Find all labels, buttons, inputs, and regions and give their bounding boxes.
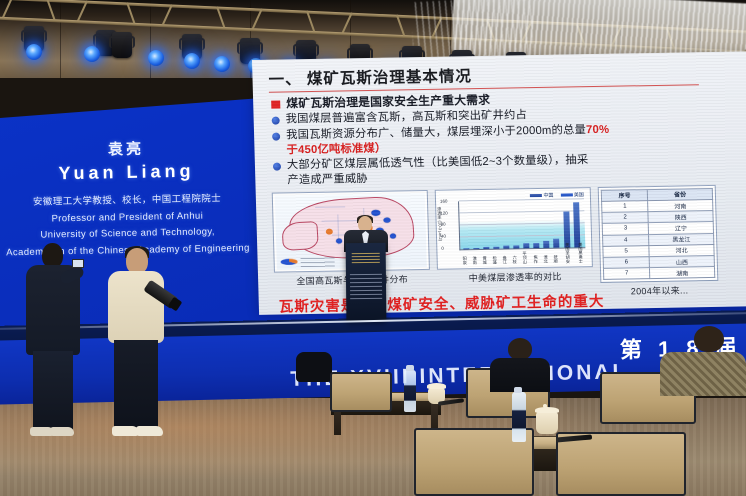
x-tick-label: 焦作 bbox=[533, 255, 539, 263]
audience-chair bbox=[556, 432, 686, 496]
table-cell-no: 1 bbox=[602, 201, 649, 213]
map-legend-pie bbox=[281, 258, 298, 264]
chart-bar bbox=[553, 238, 560, 247]
conference-stage-photo: 袁亮 Yuan Liang 安徽理工大学教授、校长，中国工程院院士 Profes… bbox=[0, 0, 746, 496]
chart-bar bbox=[523, 244, 529, 248]
table-header-cell: 序号 bbox=[601, 189, 648, 201]
presentation-slide: 一、 煤矿瓦斯治理基本情况 煤矿瓦斯治理是国家安全生产重大需求 我国煤层普遍富含… bbox=[252, 51, 746, 315]
chart-bar bbox=[573, 202, 581, 247]
x-tick-label: 抚顺 bbox=[553, 255, 559, 263]
y-tick-label: 120 bbox=[440, 210, 447, 215]
audience-member bbox=[490, 338, 550, 390]
figure-rank-table: 序号 省份 1 河南 2 陕西 3 辽宁 bbox=[598, 185, 719, 299]
chart-bar bbox=[513, 245, 519, 248]
square-bullet-icon bbox=[271, 101, 280, 109]
dot-bullet-icon bbox=[272, 132, 280, 140]
dot-bullet-icon bbox=[273, 162, 281, 170]
table-cell-no: 2 bbox=[602, 212, 649, 224]
cup-lid-knob bbox=[543, 404, 547, 408]
x-tick-label: 松藻 bbox=[492, 256, 498, 264]
x-tick-label: 淮南 bbox=[472, 256, 478, 264]
chart-bar bbox=[543, 241, 549, 248]
photographer-body bbox=[108, 271, 164, 343]
x-tick-label: 美国圣胡安 bbox=[564, 242, 571, 263]
legend-swatch-china bbox=[530, 194, 542, 197]
x-tick-label: 六枝 bbox=[512, 256, 518, 264]
bullet-text-main: 我国煤层普遍富含瓦斯，高瓦斯和突出矿井约占 bbox=[286, 109, 528, 125]
x-tick-label: 平顶山 bbox=[521, 251, 527, 264]
table-row: 7 湖南 bbox=[603, 267, 714, 280]
bottle-cap bbox=[406, 365, 414, 371]
water-bottle bbox=[512, 392, 526, 442]
podium-lectern bbox=[346, 243, 387, 321]
chart-bar bbox=[493, 247, 499, 249]
podium-logo bbox=[352, 253, 380, 263]
bullet-text-main: 我国瓦斯资源分布广、储量大，煤层埋深小于2000m的总量 bbox=[286, 124, 586, 141]
y-tick-label: 0 bbox=[441, 245, 444, 250]
x-tick-label: 美国黑勇士 bbox=[577, 242, 584, 263]
water-bottle bbox=[404, 370, 416, 412]
bottle-cap bbox=[514, 387, 522, 393]
table-cell-province: 湖南 bbox=[650, 267, 715, 279]
table-cell-no: 5 bbox=[603, 245, 650, 257]
podium-text-block bbox=[350, 273, 382, 299]
smartphone bbox=[72, 259, 84, 268]
chart-bar bbox=[473, 248, 479, 249]
audience-head bbox=[508, 338, 532, 360]
bullet-subline: 产造成严重威胁 bbox=[287, 168, 589, 188]
chart-bar bbox=[483, 247, 489, 249]
legend-swatch-usa bbox=[560, 193, 572, 196]
audience-torso bbox=[660, 352, 746, 396]
audience-member bbox=[660, 330, 746, 392]
photographer-legs bbox=[33, 351, 73, 431]
audience-chair bbox=[330, 372, 392, 412]
x-tick-label: 晋城 bbox=[482, 256, 488, 264]
dot-bullet-icon bbox=[272, 117, 280, 125]
table-cell-no: 7 bbox=[603, 268, 650, 280]
cup-lid bbox=[427, 383, 446, 389]
photographer-shoe bbox=[50, 427, 74, 436]
bullet-text-main: 大部分矿区煤层属低透气性（比美国低2~3个数量级），抽采 bbox=[287, 154, 589, 171]
slide-bullet-list: 煤矿瓦斯治理是国家安全生产重大需求 我国煤层普遍富含瓦斯，高瓦斯和突出矿井约占 … bbox=[271, 89, 746, 189]
foreground-photographer-with-phone bbox=[20, 243, 86, 443]
audience-head bbox=[694, 326, 724, 352]
photographer-shoe bbox=[112, 426, 139, 436]
table-cell-no: 4 bbox=[603, 234, 650, 246]
map-legend-text bbox=[300, 255, 334, 267]
photographer-legs bbox=[114, 340, 158, 430]
permeability-comparison-chart: 中国 美国 渗透率 (10-3 μm2) 160 120 80 40 0 bbox=[438, 190, 590, 267]
chart-bar bbox=[503, 246, 509, 248]
x-tick-label: 淮北 bbox=[543, 255, 549, 263]
table-cell-no: 6 bbox=[603, 256, 650, 268]
cup-lid bbox=[535, 407, 559, 413]
province-rank-table: 序号 省份 1 河南 2 陕西 3 辽宁 bbox=[601, 188, 716, 280]
chart-bar bbox=[533, 243, 539, 248]
speaker-name-chinese: 袁亮 bbox=[3, 136, 249, 162]
x-tick-label: 盘江 bbox=[502, 256, 508, 264]
table-cell-no: 3 bbox=[602, 223, 649, 235]
y-tick-label: 160 bbox=[440, 198, 447, 203]
figure-bar-chart: 中国 美国 渗透率 (10-3 μm2) 160 120 80 40 0 bbox=[435, 187, 594, 285]
bullet-text: 大部分矿区煤层属低透气性（比美国低2~3个数量级），抽采 产造成严重威胁 bbox=[287, 153, 589, 188]
tea-cup bbox=[536, 412, 558, 434]
y-tick-label: 40 bbox=[441, 233, 446, 238]
camera-bag bbox=[296, 352, 332, 382]
foreground-photographer-with-camera bbox=[100, 248, 180, 444]
bullet-highlight-value: 70% bbox=[586, 123, 610, 135]
figure-table-frame: 序号 省份 1 河南 2 陕西 3 辽宁 bbox=[598, 185, 719, 284]
bullet-text: 我国瓦斯资源分布广、储量大，煤层埋深小于2000m的总量70% 于450亿吨标准… bbox=[286, 122, 610, 157]
photographer-shoe bbox=[136, 426, 163, 436]
x-tick-label: 阳泉 bbox=[462, 257, 468, 265]
chart-bar bbox=[463, 248, 469, 249]
figure-chart-frame: 中国 美国 渗透率 (10-3 μm2) 160 120 80 40 0 bbox=[435, 187, 593, 270]
speaker-name-english: Yuan Liang bbox=[3, 160, 249, 186]
y-tick-label: 80 bbox=[441, 221, 446, 226]
figure-chart-caption: 中美煤层渗透率的对比 bbox=[437, 269, 593, 285]
